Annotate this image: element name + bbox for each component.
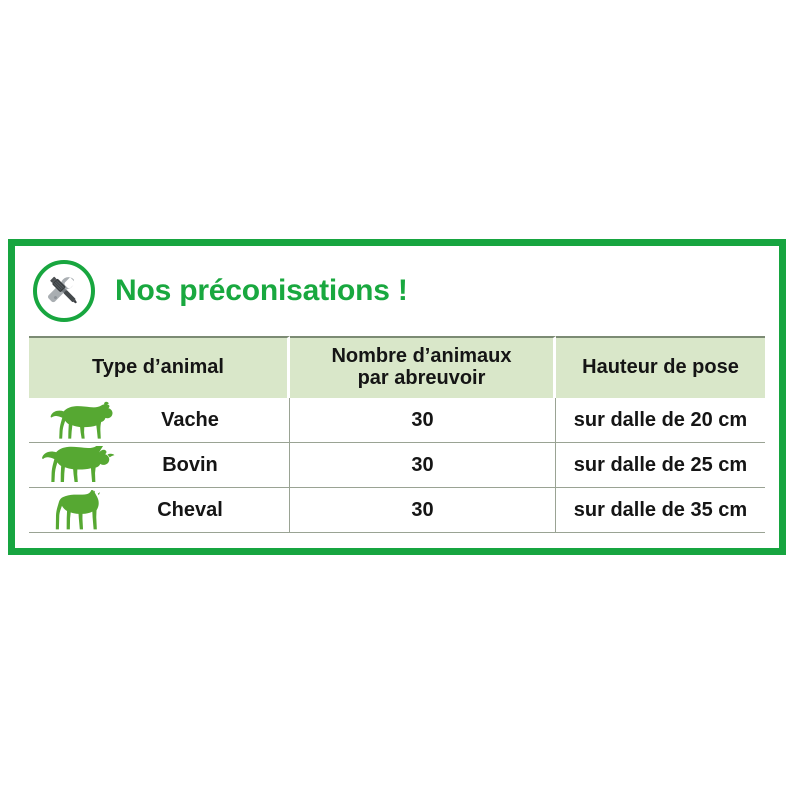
preconisations-table: Type d’animal Nombre d’animaux par abreu…: [29, 336, 765, 533]
cell-animal-type: Vache: [29, 398, 290, 443]
table-row: Bovin 30 sur dalle de 25 cm: [29, 443, 765, 488]
bull-icon: [35, 446, 121, 484]
table-row: Vache 30 sur dalle de 20 cm: [29, 398, 765, 443]
wrench-screwdriver-icon: [33, 260, 95, 322]
page-title: Nos préconisations !: [115, 274, 408, 308]
column-header-animal-type: Type d’animal: [29, 336, 290, 398]
column-header-animal-count: Nombre d’animaux par abreuvoir: [290, 336, 556, 398]
column-header-animal-count-line2: par abreuvoir: [358, 367, 486, 389]
preconisations-card: Nos préconisations ! Type d’animal Nombr…: [8, 239, 786, 555]
table-head: Type d’animal Nombre d’animaux par abreu…: [29, 336, 765, 398]
column-header-animal-count-line1: Nombre d’animaux: [331, 345, 511, 367]
cell-animal-type: Bovin: [29, 443, 290, 488]
cell-animal-count: 30: [290, 398, 556, 443]
column-header-mounting-height: Hauteur de pose: [556, 336, 765, 398]
cell-animal-count: 30: [290, 488, 556, 533]
animal-label: Cheval: [121, 499, 283, 522]
card-inner: Nos préconisations ! Type d’animal Nombr…: [15, 246, 779, 548]
card-header: Nos préconisations !: [29, 246, 765, 336]
table-body: Vache 30 sur dalle de 20 cm: [29, 398, 765, 533]
cell-mounting-height: sur dalle de 25 cm: [556, 443, 765, 488]
animal-label: Vache: [121, 409, 283, 432]
page-root: Nos préconisations ! Type d’animal Nombr…: [0, 0, 800, 800]
cell-mounting-height: sur dalle de 35 cm: [556, 488, 765, 533]
animal-label: Bovin: [121, 454, 283, 477]
cell-animal-count: 30: [290, 443, 556, 488]
cow-icon: [35, 401, 121, 439]
table-row: Cheval 30 sur dalle de 35 cm: [29, 488, 765, 533]
cell-mounting-height: sur dalle de 20 cm: [556, 398, 765, 443]
table-header-row: Type d’animal Nombre d’animaux par abreu…: [29, 336, 765, 398]
horse-icon: [35, 490, 121, 530]
cell-animal-type: Cheval: [29, 488, 290, 533]
